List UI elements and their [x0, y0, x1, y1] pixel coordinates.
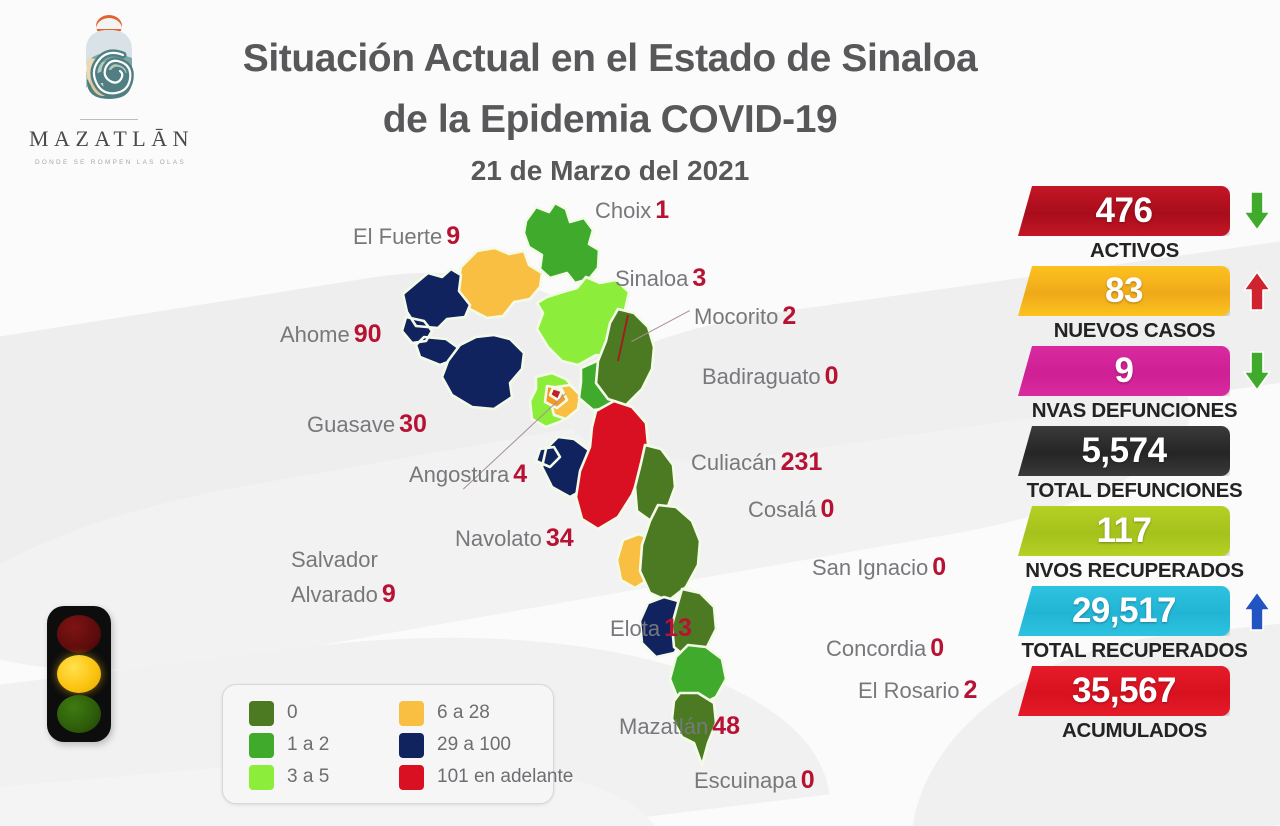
map-label-value: 90	[354, 320, 382, 348]
map-label-name: Choix	[595, 198, 651, 223]
map-label-name: Escuinapa	[694, 768, 797, 793]
legend-grid: 06 a 281 a 229 a 1003 a 5101 en adelante	[223, 697, 553, 793]
stat-ribbon: 5,574	[1018, 426, 1230, 476]
map-label-name: El Fuerte	[353, 224, 442, 249]
stat-value: 117	[1097, 511, 1152, 551]
stat-row: 476	[1012, 186, 1280, 238]
legend-label: 29 a 100	[437, 734, 511, 756]
trend-arrow-up-icon	[1242, 590, 1272, 632]
covid-traffic-light	[47, 606, 111, 742]
logo-tagline: DONDE SE ROMPEN LAS OLAS	[14, 159, 204, 166]
map-label-culiac-n: Culiacán231	[691, 448, 822, 477]
map-label-name: Sinaloa	[615, 266, 688, 291]
stat-value: 83	[1105, 271, 1143, 311]
stat-label: ACUMULADOS	[1012, 719, 1257, 743]
stat-label: NVOS RECUPERADOS	[1012, 559, 1257, 583]
legend-item: 29 a 100	[399, 729, 581, 761]
legend-swatch	[399, 765, 424, 790]
legend-label: 0	[287, 702, 298, 724]
title-line-2: de la Epidemia COVID-19	[210, 89, 1010, 150]
stat-value: 9	[1115, 351, 1134, 391]
stat-row: 5,574	[1012, 426, 1280, 478]
stat-label: NUEVOS CASOS	[1012, 319, 1257, 343]
map-label-name: Culiacán	[691, 450, 777, 475]
legend-label: 6 a 28	[437, 702, 490, 724]
traffic-light-red-lamp	[57, 615, 101, 653]
map-label-name: Guasave	[307, 412, 395, 437]
map-label-value: 0	[932, 553, 946, 581]
stat-label: TOTAL RECUPERADOS	[1012, 639, 1257, 663]
map-label-value: 231	[781, 448, 823, 476]
logo-wordmark: MAZATLĀN	[14, 126, 204, 152]
map-label-value: 9	[382, 580, 396, 608]
stat-card: 476ACTIVOS	[1012, 186, 1280, 263]
statistics-panel: 476ACTIVOS83NUEVOS CASOS9NVAS DEFUNCIONE…	[1012, 186, 1280, 746]
legend-item: 1 a 2	[249, 729, 399, 761]
title-line-1: Situación Actual en el Estado de Sinaloa	[210, 28, 1010, 89]
stat-card: 83NUEVOS CASOS	[1012, 266, 1280, 343]
map-label-name: Badiraguato	[702, 364, 821, 389]
map-label-elota: Elota13	[610, 614, 692, 643]
map-label-name: Angostura	[409, 462, 509, 487]
infographic-root: MAZATLĀN DONDE SE ROMPEN LAS OLAS Situac…	[0, 0, 1280, 826]
map-label-mazatl-n: Mazatlán48	[619, 712, 740, 741]
stat-card: 5,574TOTAL DEFUNCIONES	[1012, 426, 1280, 503]
map-legend: 06 a 281 a 229 a 1003 a 5101 en adelante	[222, 684, 554, 804]
mazatlan-logo: MAZATLĀN DONDE SE ROMPEN LAS OLAS	[14, 10, 204, 166]
stat-card: 117NVOS RECUPERADOS	[1012, 506, 1280, 583]
map-label-choix: Choix1	[595, 196, 669, 225]
stat-card: 29,517TOTAL RECUPERADOS	[1012, 586, 1280, 663]
map-label-guasave: Guasave30	[307, 410, 427, 439]
map-label-name: Mazatlán	[619, 714, 708, 739]
page-title: Situación Actual en el Estado de Sinaloa…	[210, 28, 1010, 194]
legend-item: 6 a 28	[399, 697, 581, 729]
stat-card: 35,567ACUMULADOS	[1012, 666, 1280, 743]
map-label-name: El Rosario	[858, 678, 959, 703]
trend-arrow-up-icon	[1242, 270, 1272, 312]
map-label-name: Ahome	[280, 322, 350, 347]
traffic-light-amber-lamp	[57, 655, 101, 693]
legend-label: 1 a 2	[287, 734, 329, 756]
stat-ribbon: 476	[1018, 186, 1230, 236]
map-label-angostura: Angostura4	[409, 460, 527, 489]
map-label-value: 3	[692, 264, 706, 292]
map-label-value: 0	[825, 362, 839, 390]
map-label-name: Cosalá	[748, 497, 816, 522]
map-label-name: Navolato	[455, 526, 542, 551]
stat-row: 35,567	[1012, 666, 1280, 718]
map-label-value: 0	[820, 495, 834, 523]
trend-arrow-down-icon	[1242, 350, 1272, 392]
stat-label: TOTAL DEFUNCIONES	[1012, 479, 1257, 503]
map-label-value: 34	[546, 524, 574, 552]
map-label-name: Concordia	[826, 636, 926, 661]
map-label-name: Salvador	[291, 543, 396, 577]
map-label-name-line2: Alvarado9	[291, 577, 396, 612]
map-label-value: 2	[782, 302, 796, 330]
map-label-value: 9	[446, 222, 460, 250]
map-label-value: 0	[930, 634, 944, 662]
logo-divider	[80, 119, 138, 120]
map-label-value: 30	[399, 410, 427, 438]
stat-label: ACTIVOS	[1012, 239, 1257, 263]
stat-row: 29,517	[1012, 586, 1280, 638]
map-label-mocorito: Mocorito2	[694, 302, 796, 331]
map-label-value: 0	[801, 766, 815, 794]
stat-value: 476	[1096, 191, 1153, 231]
map-label-escuinapa: Escuinapa0	[694, 766, 815, 795]
map-label-name: San Ignacio	[812, 555, 928, 580]
stat-label: NVAS DEFUNCIONES	[1012, 399, 1257, 423]
stat-ribbon: 29,517	[1018, 586, 1230, 636]
map-label-el-fuerte: El Fuerte9	[353, 222, 460, 251]
stat-row: 9	[1012, 346, 1280, 398]
map-label-salvador-alvarado: SalvadorAlvarado9	[291, 543, 396, 612]
stat-value: 5,574	[1081, 431, 1166, 471]
map-label-concordia: Concordia0	[826, 634, 944, 663]
map-label-navolato: Navolato34	[455, 524, 574, 553]
map-label-value: 13	[664, 614, 692, 642]
stat-value: 29,517	[1072, 591, 1176, 631]
map-label-value: 48	[712, 712, 740, 740]
mazatlan-shell-logo-icon	[68, 10, 150, 110]
legend-swatch	[249, 765, 274, 790]
map-label-value: 1	[655, 196, 669, 224]
map-label-value: 2	[963, 676, 977, 704]
trend-arrow-down-icon	[1242, 190, 1272, 232]
legend-swatch	[249, 701, 274, 726]
legend-label: 101 en adelante	[437, 766, 573, 788]
stat-ribbon: 83	[1018, 266, 1230, 316]
map-label-badiraguato: Badiraguato0	[702, 362, 839, 391]
stat-row: 117	[1012, 506, 1280, 558]
stat-value: 35,567	[1072, 671, 1176, 711]
legend-item: 0	[249, 697, 399, 729]
map-label-sinaloa: Sinaloa3	[615, 264, 706, 293]
map-label-san-ignacio: San Ignacio0	[812, 553, 946, 582]
legend-label: 3 a 5	[287, 766, 329, 788]
legend-swatch	[399, 701, 424, 726]
map-label-el-rosario: El Rosario2	[858, 676, 977, 705]
legend-swatch	[249, 733, 274, 758]
traffic-light-green-lamp	[57, 695, 101, 733]
map-label-value: 4	[513, 460, 527, 488]
stat-ribbon: 117	[1018, 506, 1230, 556]
map-label-cosal-: Cosalá0	[748, 495, 834, 524]
stat-card: 9NVAS DEFUNCIONES	[1012, 346, 1280, 423]
stat-ribbon: 35,567	[1018, 666, 1230, 716]
legend-item: 3 a 5	[249, 761, 399, 793]
stat-ribbon: 9	[1018, 346, 1230, 396]
legend-swatch	[399, 733, 424, 758]
legend-item: 101 en adelante	[399, 761, 581, 793]
stat-row: 83	[1012, 266, 1280, 318]
map-label-name: Elota	[610, 616, 660, 641]
map-label-ahome: Ahome90	[280, 320, 382, 349]
map-label-name: Mocorito	[694, 304, 778, 329]
